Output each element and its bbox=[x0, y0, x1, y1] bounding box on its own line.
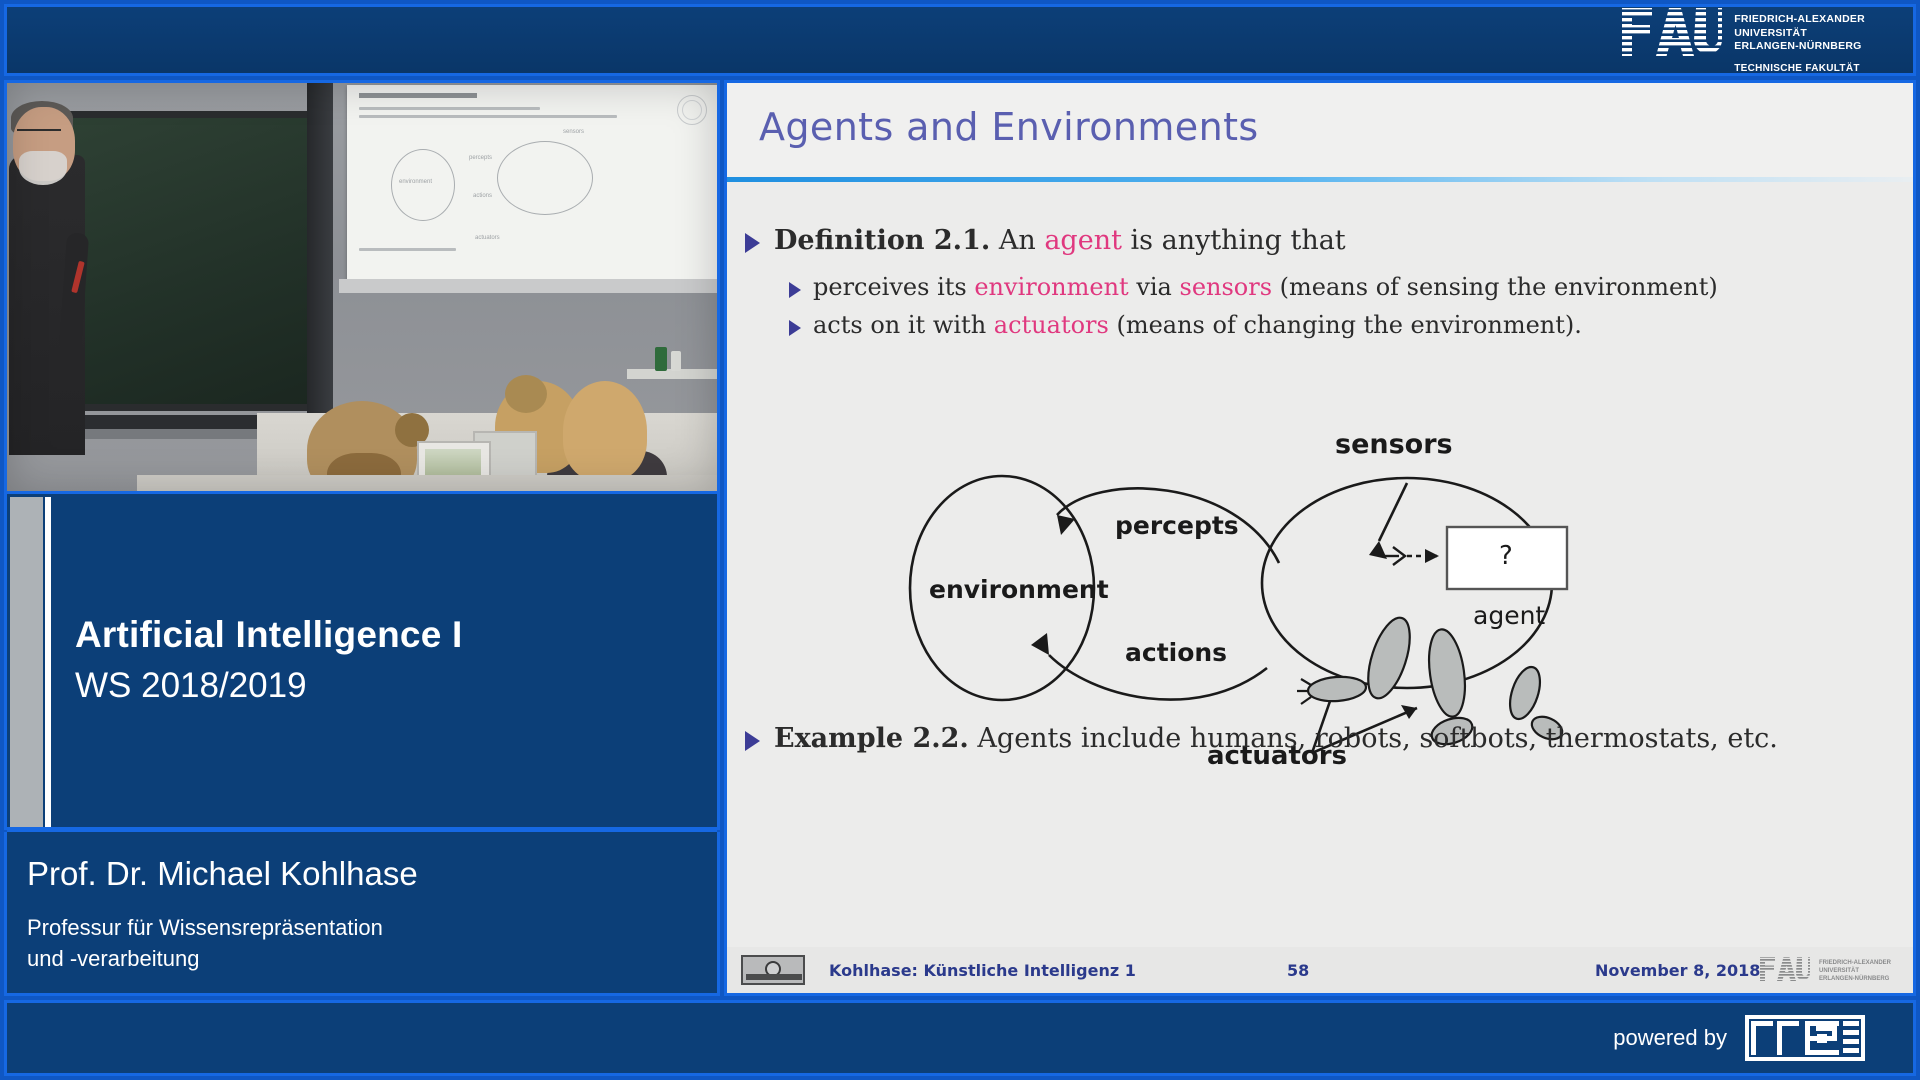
footer-date: November 8, 2018 bbox=[1595, 961, 1760, 980]
presenter-role-line-1: Professur für Wissensrepräsentation bbox=[27, 912, 717, 943]
keyword-agent: agent bbox=[1044, 225, 1122, 256]
powered-by-group: powered by bbox=[1613, 1015, 1865, 1061]
bullet-definition-2-1: Definition 2.1. An agent is anything tha… bbox=[745, 225, 1346, 256]
fau-line-2: UNIVERSITÄT bbox=[1734, 27, 1865, 40]
course-title-panel: Artificial Intelligence I WS 2018/2019 bbox=[4, 494, 720, 830]
slide-body: Definition 2.1. An agent is anything tha… bbox=[727, 193, 1913, 955]
presenter-role-line-2: und -verarbeitung bbox=[27, 943, 717, 974]
diagram-label-actions: actions bbox=[1125, 638, 1227, 667]
slide-title: Agents and Environments bbox=[759, 105, 1259, 149]
fau-line-1: FRIEDRICH-ALEXANDER bbox=[1734, 13, 1865, 26]
fau-line-3: ERLANGEN-NÜRNBERG bbox=[1734, 40, 1865, 53]
definition-label: Definition 2.1. bbox=[774, 225, 990, 256]
title-accent-bar bbox=[10, 497, 43, 827]
diagram-label-sensors: sensors bbox=[1335, 429, 1453, 460]
presenter-role: Professur für Wissensrepräsentation und … bbox=[27, 912, 717, 974]
example-text: Example 2.2. Agents include humans, robo… bbox=[774, 723, 1778, 754]
fau-logo-icon bbox=[1620, 6, 1724, 58]
example-label: Example 2.2. bbox=[774, 723, 969, 754]
example-body: Agents include humans, robots, softbots,… bbox=[969, 723, 1778, 754]
rrze-logo-icon bbox=[1745, 1015, 1865, 1061]
seg-text: (means of changing the environment). bbox=[1109, 311, 1582, 339]
presenter-panel: Prof. Dr. Michael Kohlhase Professur für… bbox=[4, 832, 720, 996]
triangle-bullet-icon bbox=[789, 282, 801, 298]
footer-page-number: 58 bbox=[1287, 961, 1309, 980]
slide-header: Agents and Environments bbox=[727, 83, 1913, 179]
fau-logo-icon bbox=[1757, 956, 1813, 982]
seg-text: (means of sensing the environment) bbox=[1272, 273, 1718, 301]
keyword-sensors: sensors bbox=[1180, 273, 1273, 301]
definition-text: Definition 2.1. An agent is anything tha… bbox=[774, 225, 1346, 256]
course-title: Artificial Intelligence I bbox=[75, 612, 462, 657]
footer-fau-line-3: ERLANGEN-NÜRNBERG bbox=[1819, 976, 1891, 984]
diagram-label-percepts: percepts bbox=[1115, 511, 1239, 540]
title-accent-line bbox=[45, 497, 51, 827]
footer-attribution: Kohlhase: Künstliche Intelligenz 1 bbox=[829, 961, 1136, 980]
video-vignette bbox=[7, 83, 717, 491]
bullet-perceives: perceives its environment via sensors (m… bbox=[789, 273, 1718, 301]
footer-fau-logo: FRIEDRICH-ALEXANDER UNIVERSITÄT ERLANGEN… bbox=[1757, 956, 1891, 983]
course-title-group: Artificial Intelligence I WS 2018/2019 bbox=[75, 612, 462, 709]
slide-footer: Kohlhase: Künstliche Intelligenz 1 58 No… bbox=[727, 947, 1913, 993]
acts-text: acts on it with actuators (means of chan… bbox=[813, 311, 1582, 339]
definition-after: is anything that bbox=[1122, 225, 1346, 256]
bottom-bar: powered by bbox=[4, 1000, 1916, 1076]
course-term: WS 2018/2019 bbox=[75, 663, 462, 709]
bullet-acts: acts on it with actuators (means of chan… bbox=[789, 311, 1582, 339]
left-column: environment percepts actions sensors act… bbox=[4, 80, 720, 996]
keyword-actuators: actuators bbox=[994, 311, 1109, 339]
triangle-bullet-icon bbox=[745, 233, 760, 253]
footer-fau-line-1: FRIEDRICH-ALEXANDER bbox=[1819, 960, 1891, 968]
presenter-name: Prof. Dr. Michael Kohlhase bbox=[27, 854, 717, 894]
fau-wordmark: FRIEDRICH-ALEXANDER UNIVERSITÄT ERLANGEN… bbox=[1734, 6, 1865, 73]
keyword-environment: environment bbox=[974, 273, 1128, 301]
diagram-label-question: ? bbox=[1499, 541, 1513, 571]
fau-brand-header: FRIEDRICH-ALEXANDER UNIVERSITÄT ERLANGEN… bbox=[1620, 6, 1865, 73]
perceives-text: perceives its environment via sensors (m… bbox=[813, 273, 1718, 301]
powered-by-label: powered by bbox=[1613, 1025, 1727, 1051]
bullet-example-2-2: Example 2.2. Agents include humans, robo… bbox=[745, 723, 1778, 754]
triangle-bullet-icon bbox=[789, 320, 801, 336]
lecture-video[interactable]: environment percepts actions sensors act… bbox=[4, 80, 720, 494]
diagram-label-agent: agent bbox=[1473, 601, 1545, 630]
seg-text: via bbox=[1129, 273, 1180, 301]
agent-environment-diagram: environment percepts actions sensors act… bbox=[907, 423, 1737, 763]
seg-text: acts on it with bbox=[813, 311, 994, 339]
slide-panel[interactable]: Agents and Environments Definition 2.1. … bbox=[724, 80, 1916, 996]
cc-bar bbox=[746, 974, 802, 980]
definition-before: An bbox=[990, 225, 1044, 256]
app-header: FRIEDRICH-ALEXANDER UNIVERSITÄT ERLANGEN… bbox=[4, 4, 1916, 76]
cc-license-badge-icon bbox=[741, 955, 805, 985]
diagram-label-environment: environment bbox=[929, 575, 1109, 604]
video-frame: environment percepts actions sensors act… bbox=[7, 83, 717, 491]
seg-text: perceives its bbox=[813, 273, 974, 301]
footer-fau-wordmark: FRIEDRICH-ALEXANDER UNIVERSITÄT ERLANGEN… bbox=[1819, 956, 1891, 983]
player-stage: FRIEDRICH-ALEXANDER UNIVERSITÄT ERLANGEN… bbox=[0, 0, 1920, 1080]
slide-title-rule bbox=[727, 177, 1913, 182]
triangle-bullet-icon bbox=[745, 731, 760, 751]
footer-fau-line-2: UNIVERSITÄT bbox=[1819, 968, 1891, 976]
fau-faculty: TECHNISCHE FAKULTÄT bbox=[1734, 63, 1865, 74]
